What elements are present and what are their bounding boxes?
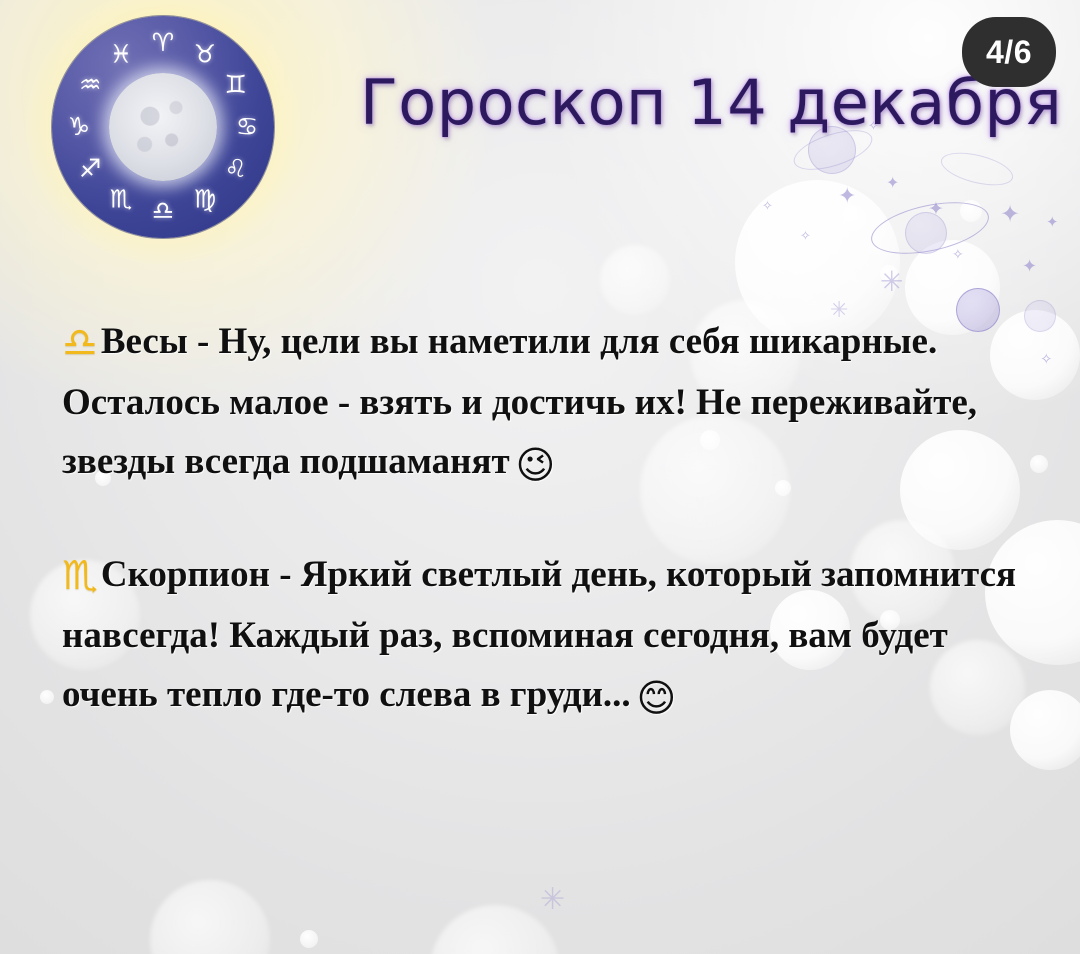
forecast-list: ♎Весы - Ну, цели вы наметили для себя ши… (62, 312, 1062, 728)
forecast-paragraph: ♎Весы - Ну, цели вы наметили для себя ши… (62, 312, 1047, 495)
libra-icon: ♎ (62, 320, 98, 366)
sparkle-doodle: ✳ (880, 268, 903, 296)
scorpio-icon: ♏ (62, 553, 98, 599)
zodiac-sign-taurus-icon: ♉ (190, 39, 220, 69)
forecast-body-text: Скорпион - Яркий светлый день, который з… (62, 554, 1016, 715)
sparkle-doodle: ✳ (540, 885, 565, 915)
star-doodle: ✧ (952, 248, 964, 262)
zodiac-sign-aquarius-icon: ♒ (75, 70, 105, 100)
star-doodle: ✦ (1046, 215, 1059, 230)
zodiac-sign-leo-icon: ♌ (221, 154, 251, 184)
forecast-item-libra: ♎Весы - Ну, цели вы наметили для себя ши… (62, 312, 1062, 495)
saturn-core-doodle (905, 212, 947, 254)
zodiac-sign-pisces-icon: ♓ (106, 39, 136, 69)
smiling-face-with-smiling-eyes-emoji: 😊 (637, 676, 677, 720)
page-counter-badge: 4/6 (962, 17, 1056, 87)
slide-header: ♈ ♉ ♊ ♋ ♌ ♍ ♎ ♏ ♐ ♑ ♒ ♓ Гороскоп 14 дека… (0, 0, 1080, 215)
zodiac-wheel-logo: ♈ ♉ ♊ ♋ ♌ ♍ ♎ ♏ ♐ ♑ ♒ ♓ (52, 16, 274, 238)
forecast-paragraph: ♏Скорпион - Яркий светлый день, который … (62, 545, 1047, 728)
star-doodle: ✦ (1022, 258, 1037, 276)
zodiac-sign-aries-icon: ♈ (148, 28, 178, 58)
winking-face-emoji: 😉 (516, 443, 556, 487)
moon-icon (109, 73, 217, 181)
zodiac-sign-sagittarius-icon: ♐ (75, 154, 105, 184)
zodiac-sign-libra-icon: ♎ (148, 196, 178, 226)
zodiac-sign-virgo-icon: ♍ (190, 185, 220, 215)
zodiac-sign-cancer-icon: ♋ (232, 112, 262, 142)
page-title: Гороскоп 14 декабря (360, 66, 1062, 139)
horoscope-slide: ✦ ✦ ✦ ✦ ✦ ✦ ✧ ✧ ✧ ✧ ✧ ✳ ✳ ✳ ♈ ♉ ♊ ♋ ♌ ♍ (0, 0, 1080, 954)
zodiac-sign-capricorn-icon: ♑ (64, 112, 94, 142)
zodiac-sign-gemini-icon: ♊ (221, 70, 251, 100)
star-doodle: ✧ (800, 230, 811, 243)
forecast-item-scorpio: ♏Скорпион - Яркий светлый день, который … (62, 545, 1062, 728)
zodiac-sign-scorpio-icon: ♏ (106, 185, 136, 215)
